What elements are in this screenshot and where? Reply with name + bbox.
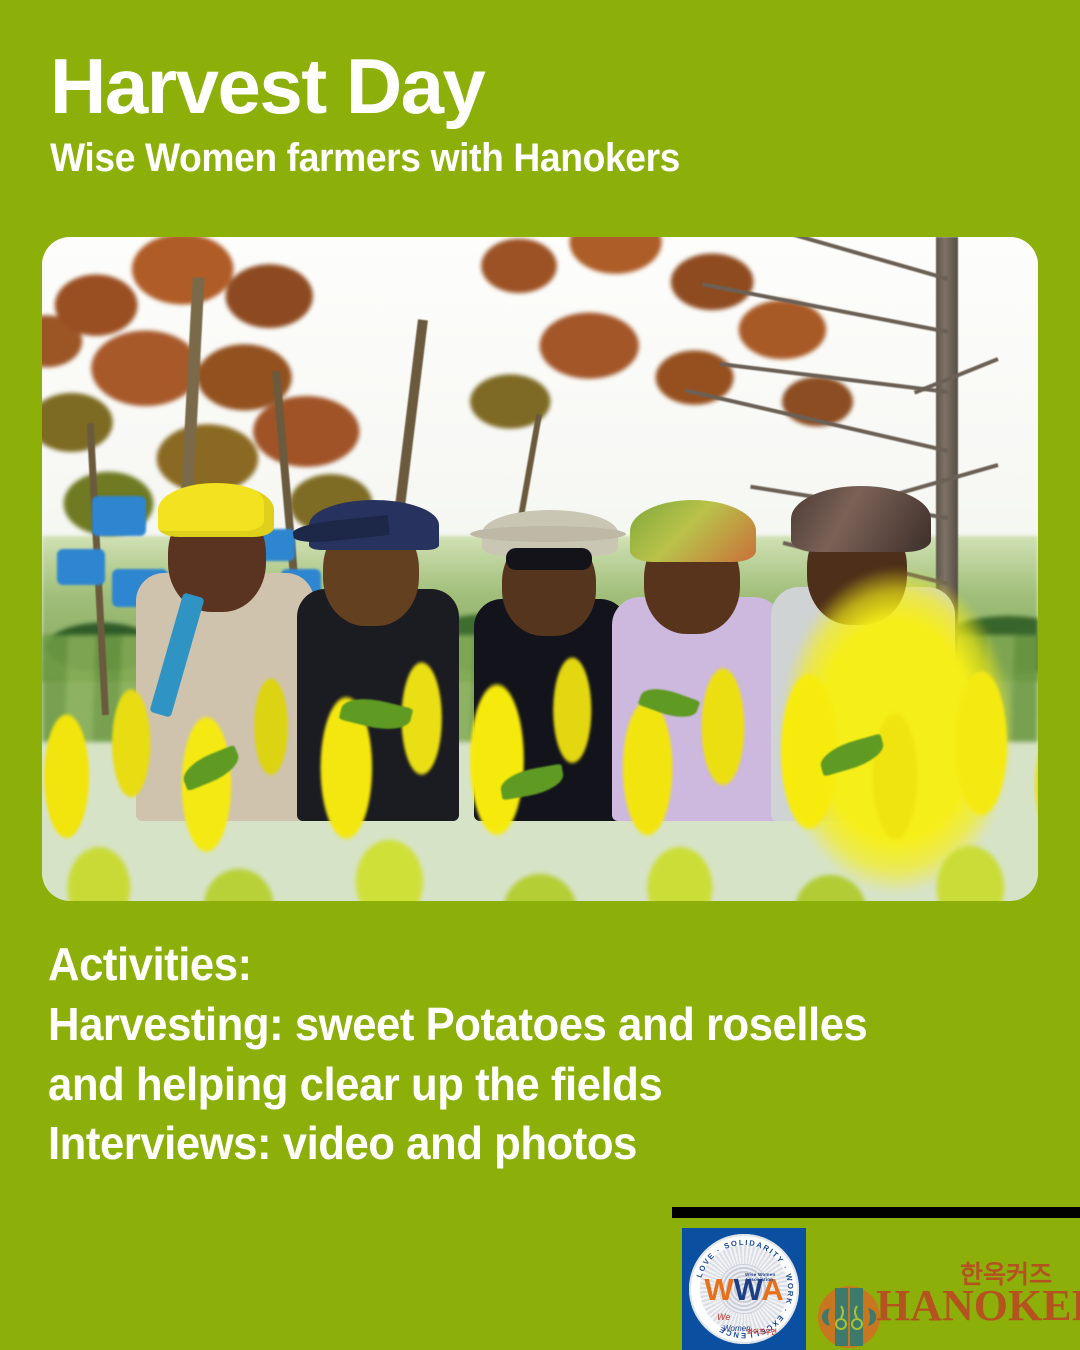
activity-line-2: and helping clear up the fields	[48, 1055, 951, 1115]
activity-line-3: Interviews: video and photos	[48, 1114, 951, 1174]
photo-scene	[42, 237, 1038, 901]
wwa-seal: LOVE · SOLIDARITY · WORK · EXCELLENCE WW…	[689, 1234, 799, 1344]
footer-divider	[672, 1207, 1080, 1218]
hanokers-logo: 한옥커즈 HANOKERS	[816, 1262, 1080, 1348]
hanokers-wordmark: HANOKERS	[876, 1284, 1080, 1328]
wwa-subtext: Wise Women Association	[745, 1272, 799, 1282]
page-title: Harvest Day	[50, 48, 1040, 124]
amaranth-lower-mass	[42, 662, 1038, 901]
wwa-logo: LOVE · SOLIDARITY · WORK · EXCELLENCE WW…	[682, 1228, 806, 1350]
harvest-photo	[42, 237, 1038, 901]
activity-line-1: Harvesting: sweet Potatoes and roselles	[48, 995, 951, 1055]
hanok-door-icon	[816, 1286, 882, 1348]
poster-canvas: Harvest Day Wise Women farmers with Hano…	[0, 0, 1080, 1350]
wwa-letter-w1: W	[704, 1272, 733, 1307]
wwa-script-1: We	[717, 1312, 730, 1322]
poster-header: Harvest Day Wise Women farmers with Hano…	[50, 48, 1040, 178]
wwa-korean-text: 와이즈우먼	[747, 1326, 777, 1336]
page-subtitle: Wise Women farmers with Hanokers	[50, 138, 971, 178]
activities-heading: Activities:	[48, 935, 951, 995]
activities-block: Activities: Harvesting: sweet Potatoes a…	[48, 935, 998, 1174]
